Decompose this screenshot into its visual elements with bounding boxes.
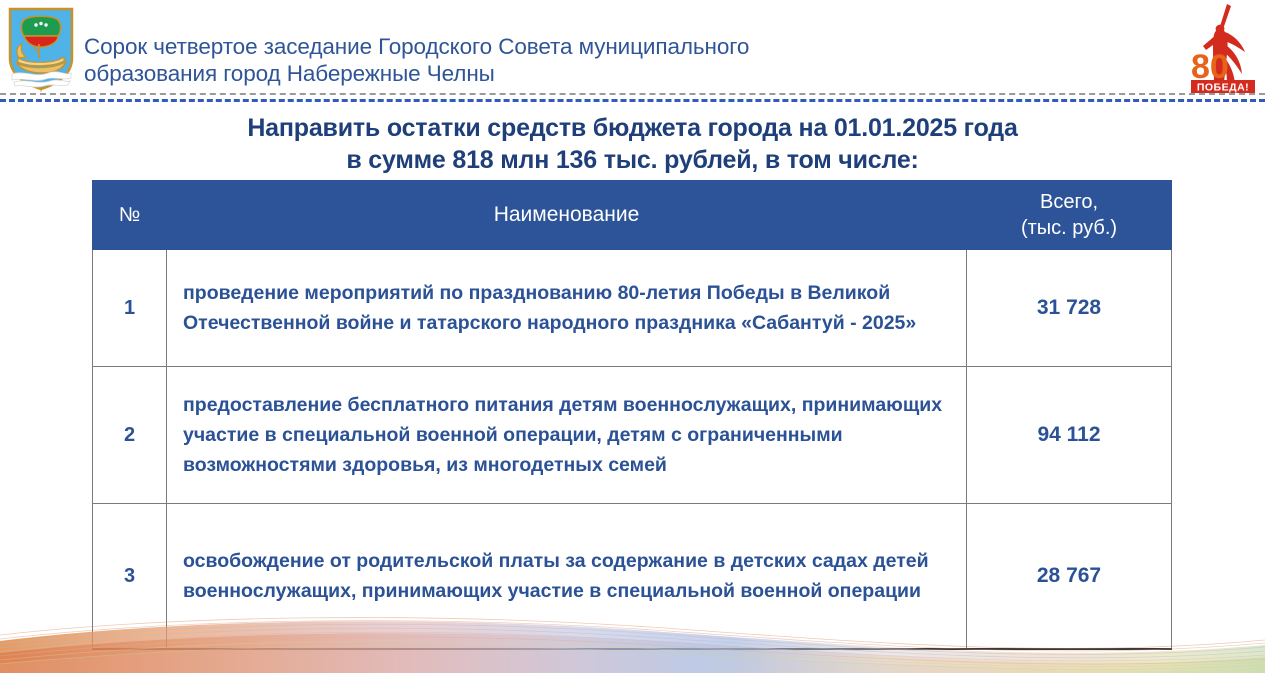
slide-header: Сорок четвертое заседание Городского Сов… bbox=[0, 0, 1265, 97]
table-header-row: № Наименование Всего, (тыс. руб.) bbox=[93, 181, 1172, 250]
table-header: № Наименование Всего, (тыс. руб.) bbox=[93, 181, 1172, 250]
row-total-amount: 31 728 bbox=[967, 250, 1172, 367]
row-description: проведение мероприятий по празднованию 8… bbox=[167, 250, 967, 367]
row-total-amount: 94 112 bbox=[967, 367, 1172, 504]
row-number: 1 bbox=[93, 250, 167, 367]
slide-title: Направить остатки средств бюджета города… bbox=[0, 112, 1265, 176]
table-row: 3 освобождение от родительской платы за … bbox=[93, 504, 1172, 650]
victory-logo-text: ПОБЕДА! bbox=[1197, 82, 1249, 94]
victory-80-anniversary-logo: 80 ПОБЕДА! bbox=[1187, 2, 1259, 94]
header-title-line1: Сорок четвертое заседание Городского Сов… bbox=[84, 33, 1164, 60]
row-total-amount: 28 767 bbox=[967, 504, 1172, 650]
row-number: 3 bbox=[93, 504, 167, 650]
column-header-total-line2: (тыс. руб.) bbox=[971, 215, 1167, 241]
header-divider-blue bbox=[0, 99, 1265, 102]
row-description: предоставление бесплатного питания детям… bbox=[167, 367, 967, 504]
slide-title-line1: Направить остатки средств бюджета города… bbox=[0, 112, 1265, 144]
column-header-total: Всего, (тыс. руб.) bbox=[967, 181, 1172, 250]
header-divider-gray bbox=[0, 93, 1265, 95]
budget-allocation-table: № Наименование Всего, (тыс. руб.) 1 пров… bbox=[92, 180, 1172, 650]
slide-canvas: Сорок четвертое заседание Городского Сов… bbox=[0, 0, 1265, 673]
table-row: 1 проведение мероприятий по празднованию… bbox=[93, 250, 1172, 367]
column-header-name: Наименование bbox=[167, 181, 967, 250]
header-title-line2: образования город Набережные Челны bbox=[84, 60, 1164, 87]
row-description: освобождение от родительской платы за со… bbox=[167, 504, 967, 650]
column-header-total-line1: Всего, bbox=[971, 189, 1167, 215]
row-number: 2 bbox=[93, 367, 167, 504]
coat-of-arms-icon bbox=[6, 6, 76, 92]
slide-title-line2: в сумме 818 млн 136 тыс. рублей, в том ч… bbox=[0, 144, 1265, 176]
table-body: 1 проведение мероприятий по празднованию… bbox=[93, 250, 1172, 650]
table-row: 2 предоставление бесплатного питания дет… bbox=[93, 367, 1172, 504]
column-header-number: № bbox=[93, 181, 167, 250]
header-title: Сорок четвертое заседание Городского Сов… bbox=[84, 33, 1164, 87]
